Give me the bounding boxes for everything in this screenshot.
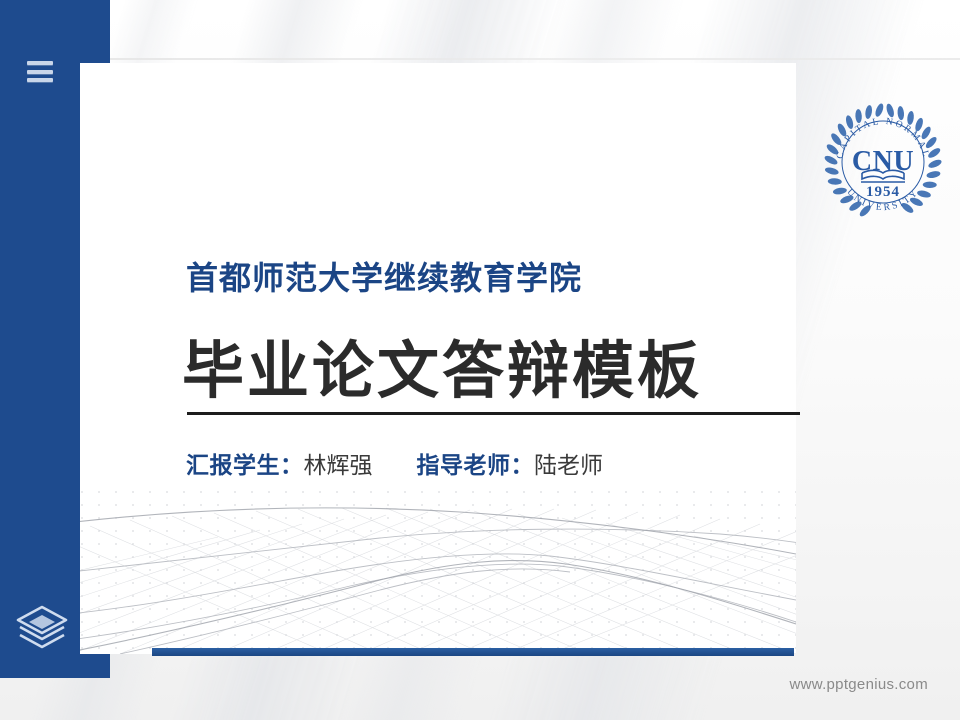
school-name-heading: 首都师范大学继续教育学院 xyxy=(186,253,582,299)
left-blue-rail-foreground xyxy=(0,0,80,678)
student-label: 汇报学生： xyxy=(186,452,304,478)
presentation-slide: CAPITAL NORMAL UNIVERSITY CNU 1954 首都师范大… xyxy=(0,0,960,720)
title-divider-rule xyxy=(187,412,800,415)
advisor-label: 指导老师： xyxy=(417,452,535,478)
page-title: 毕业论文答辩模板 xyxy=(182,320,702,410)
university-seal-logo: CAPITAL NORMAL UNIVERSITY CNU 1954 xyxy=(824,103,942,221)
stacked-layers-icon[interactable] xyxy=(14,603,70,653)
wireframe-wave-graphic xyxy=(80,464,796,654)
student-name: 林辉强 xyxy=(304,452,373,478)
background-divider xyxy=(0,58,960,60)
hamburger-bar xyxy=(27,78,53,82)
advisor-name: 陆老师 xyxy=(534,452,603,478)
card-bottom-accent-bar xyxy=(152,648,794,656)
seal-year-text: 1954 xyxy=(866,184,900,200)
hamburger-bar xyxy=(27,61,53,65)
hamburger-menu-icon[interactable] xyxy=(27,61,53,82)
footer-website-url[interactable]: www.pptgenius.com xyxy=(790,676,929,693)
presenter-meta-line: 汇报学生：林辉强指导老师：陆老师 xyxy=(186,446,603,480)
hamburger-bar xyxy=(27,70,53,74)
